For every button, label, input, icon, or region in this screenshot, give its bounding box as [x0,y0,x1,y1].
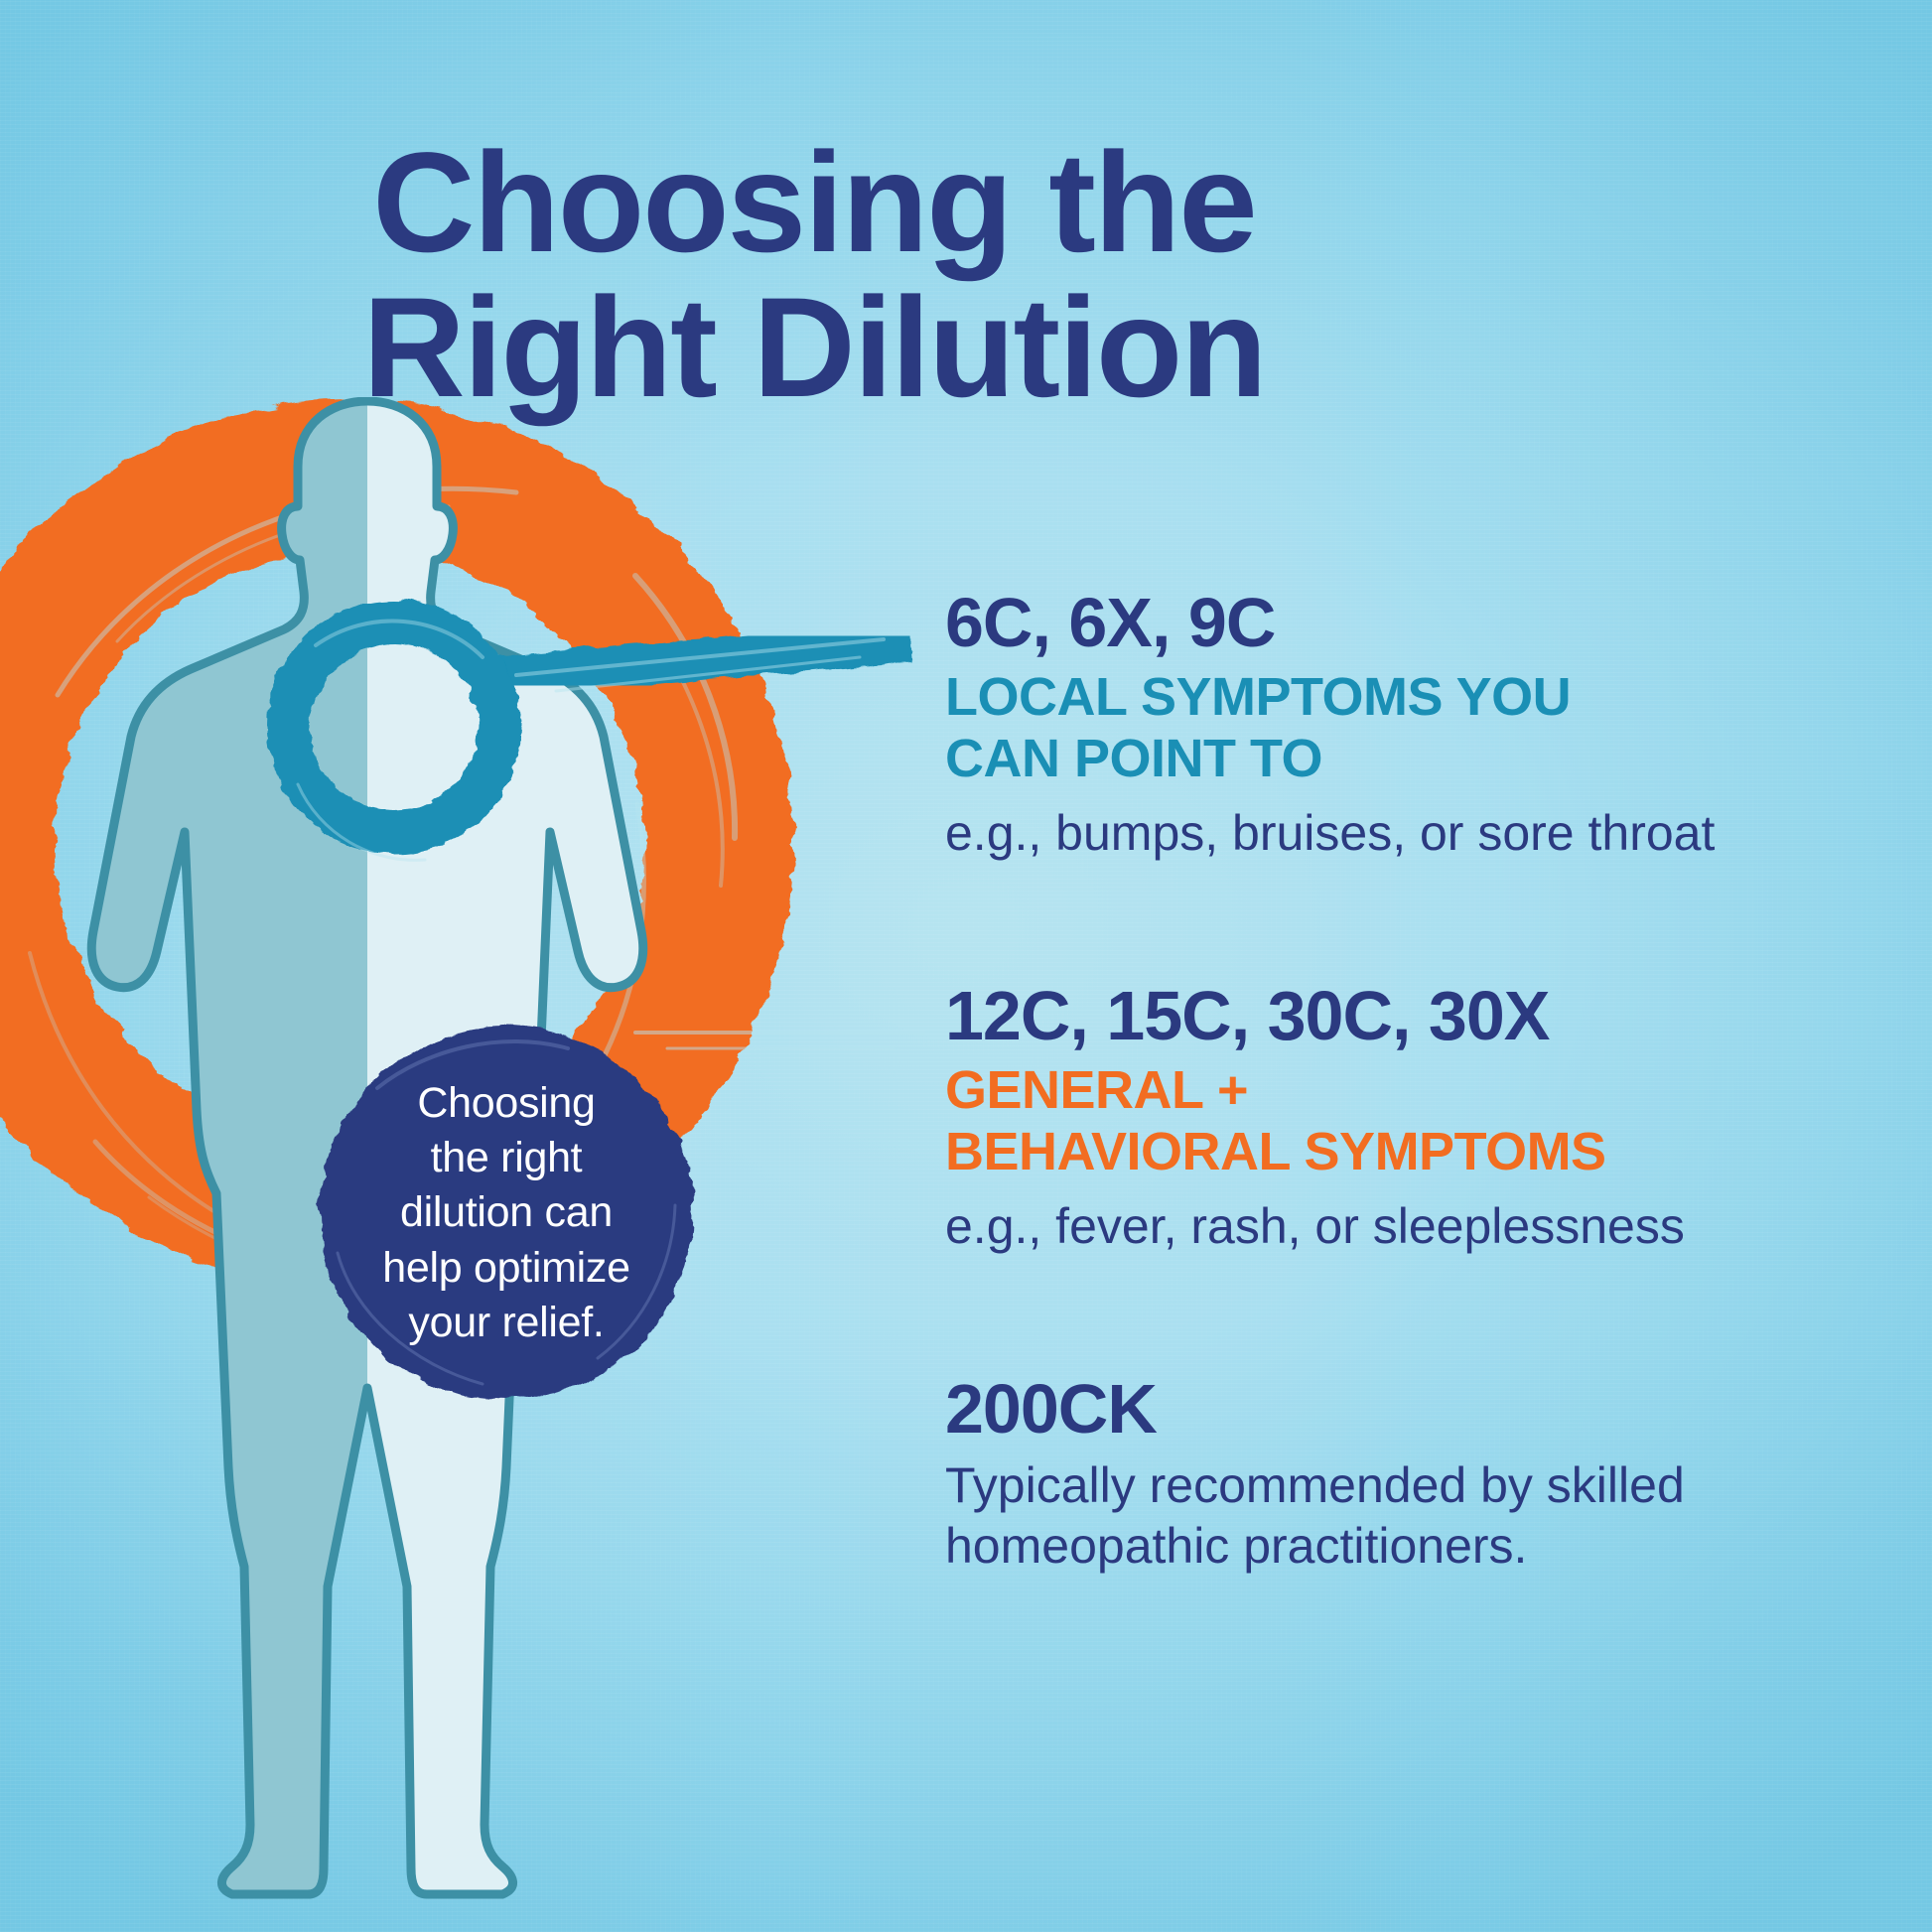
infographic-poster: Choosing the Right Dilution [0,0,1932,1932]
dilution-block-3: 200CK Typically recommended by skilled h… [945,1374,1898,1577]
example-text-3-line-1: Typically recommended by skilled [945,1455,1898,1516]
symptom-type-2-line-1: GENERAL + [945,1060,1898,1122]
example-text-2-line-1: e.g., fever, rash, or sleeplessness [945,1196,1898,1257]
example-text-1-line-1: e.g., bumps, bruises, or sore throat [945,803,1898,864]
example-text-3-line-2: homeopathic practitioners. [945,1516,1898,1577]
badge-line-3: dilution can [400,1185,613,1240]
badge-line-4: help optimize [382,1241,629,1296]
example-text-1: e.g., bumps, bruises, or sore throat [945,803,1898,864]
dilution-block-2: 12C, 15C, 30C, 30X GENERAL + BEHAVIORAL … [945,981,1898,1257]
dilution-list: 6C, 6X, 9C LOCAL SYMPTOMS YOU CAN POINT … [945,588,1898,1577]
dose-label-3: 200CK [945,1374,1898,1444]
badge-line-2: the right [431,1131,583,1185]
dose-label-1: 6C, 6X, 9C [945,588,1898,657]
dose-label-2: 12C, 15C, 30C, 30X [945,981,1898,1050]
symptom-type-1-line-2: CAN POINT TO [945,729,1898,790]
symptom-type-1-line-1: LOCAL SYMPTOMS YOU [945,667,1898,729]
page-title: Choosing the Right Dilution [0,131,1628,421]
dilution-block-1: 6C, 6X, 9C LOCAL SYMPTOMS YOU CAN POINT … [945,588,1898,864]
symptom-type-1: LOCAL SYMPTOMS YOU CAN POINT TO [945,667,1898,789]
example-text-3: Typically recommended by skilled homeopa… [945,1455,1898,1577]
symptom-type-2: GENERAL + BEHAVIORAL SYMPTOMS [945,1060,1898,1182]
title-line-1: Choosing the [0,131,1628,276]
symptom-type-2-line-2: BEHAVIORAL SYMPTOMS [945,1122,1898,1183]
badge-line-1: Choosing [417,1076,595,1131]
badge-line-5: your relief. [408,1296,604,1350]
title-line-2: Right Dilution [0,276,1628,421]
highlight-badge: Choosing the right dilution can help opt… [308,1015,705,1412]
badge-text-block: Choosing the right dilution can help opt… [308,1015,705,1412]
example-text-2: e.g., fever, rash, or sleeplessness [945,1196,1898,1257]
